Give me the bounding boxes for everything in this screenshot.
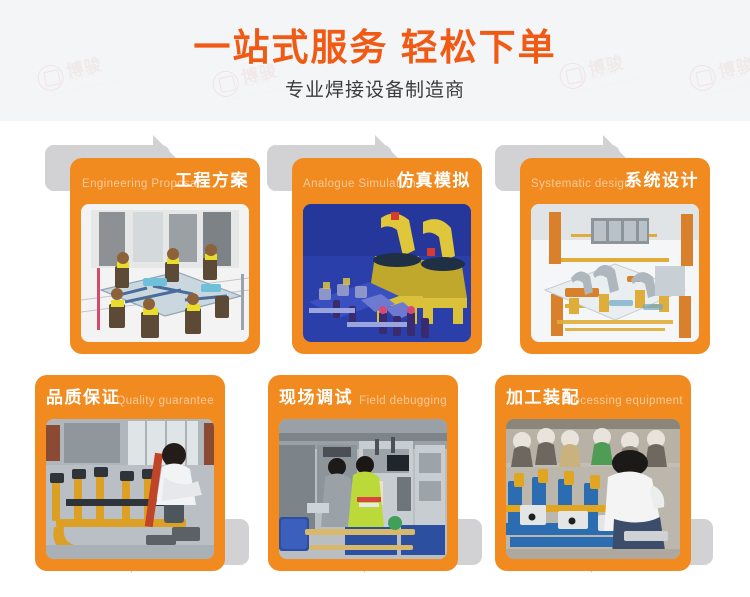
service-card-cell: Systematic design 系统设计 <box>490 131 740 367</box>
card-label-cn: 系统设计 <box>625 171 699 191</box>
card-label-en: Quality guarantee <box>116 394 214 408</box>
service-card-cell: Engineering Proposal 工程方案 <box>35 131 285 367</box>
card-label-en: Processing equipment <box>561 394 683 408</box>
page-header: 博骏 BOJUN www.bojun-welding.com 博骏 BOJUN … <box>0 0 750 121</box>
card-label-en: Systematic design <box>531 177 631 191</box>
card-photo <box>506 419 680 559</box>
card-photo <box>81 204 249 342</box>
card-field-debugging[interactable]: 现场调试 Field debugging <box>268 375 458 571</box>
card-quality-guarantee[interactable]: 品质保证 Quality guarantee <box>35 375 225 571</box>
card-label-cn: 品质保证 <box>46 388 120 408</box>
card-label-cn: 仿真模拟 <box>397 171 471 191</box>
card-label: 加工装配 Processing equipment <box>495 375 691 421</box>
card-label-cn: 工程方案 <box>175 171 249 191</box>
card-photo <box>531 204 699 342</box>
service-card-cell: Analogue Simulation 仿真模拟 <box>265 131 515 367</box>
service-card-cell: 现场调试 Field debugging <box>248 361 498 597</box>
service-card-cell: 加工装配 Processing equipment <box>475 361 725 597</box>
card-engineering-proposal[interactable]: Engineering Proposal 工程方案 <box>70 158 260 354</box>
card-label: Systematic design 系统设计 <box>520 158 710 204</box>
card-label-cn: 现场调试 <box>279 388 353 408</box>
card-label: Engineering Proposal 工程方案 <box>70 158 260 204</box>
card-label-en: Field debugging <box>359 394 447 408</box>
card-systematic-design[interactable]: Systematic design 系统设计 <box>520 158 710 354</box>
card-label: 现场调试 Field debugging <box>268 375 458 421</box>
service-card-cell: 品质保证 Quality guarantee <box>22 361 272 597</box>
card-label: 品质保证 Quality guarantee <box>35 375 225 421</box>
service-card-grid: Engineering Proposal 工程方案 <box>0 121 750 593</box>
card-photo <box>303 204 471 342</box>
card-photo <box>46 419 214 559</box>
card-label: Analogue Simulation 仿真模拟 <box>292 158 482 204</box>
card-analogue-simulation[interactable]: Analogue Simulation 仿真模拟 <box>292 158 482 354</box>
page-subtitle: 专业焊接设备制造商 <box>0 79 750 103</box>
card-processing-equipment[interactable]: 加工装配 Processing equipment <box>495 375 691 571</box>
card-photo <box>279 419 447 559</box>
page-title: 一站式服务 轻松下单 <box>0 26 750 70</box>
